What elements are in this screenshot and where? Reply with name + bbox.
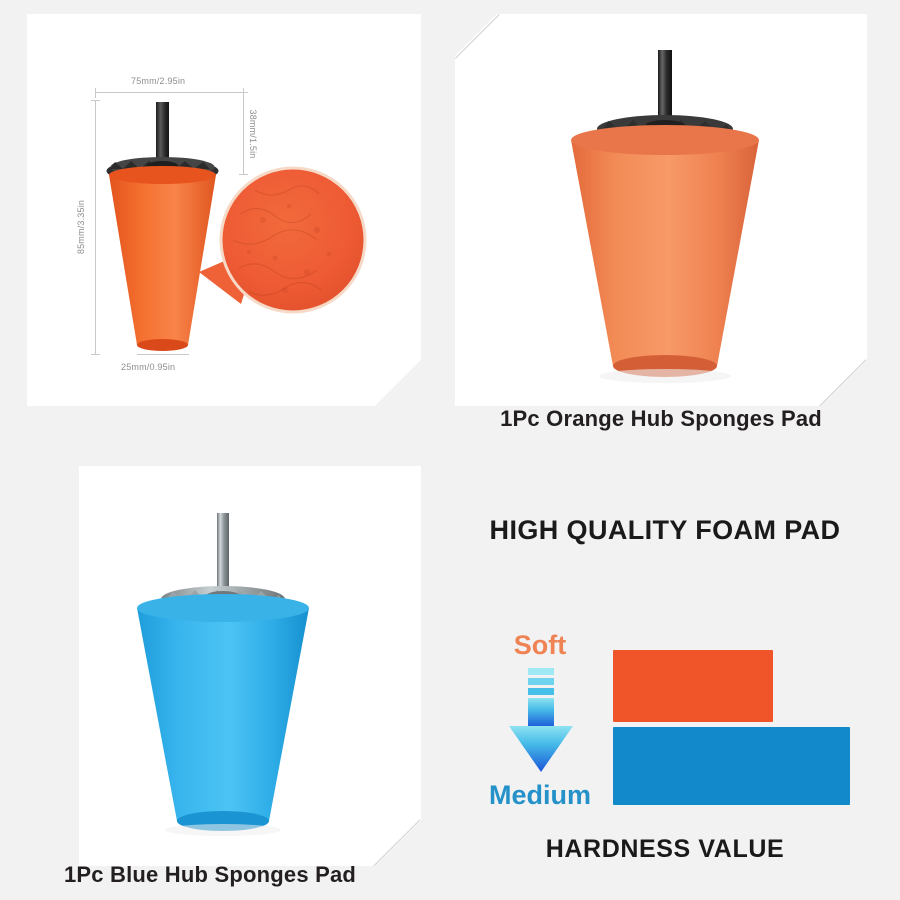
dimension-label-bottom-width: 25mm/0.95in [121,362,175,372]
blue-cone-product-image [79,466,421,866]
dimension-line-bottom-width [137,354,189,355]
dimension-tick-shaft-top [239,92,248,93]
hardness-scale-soft-label: Soft [480,630,600,661]
infographic-stage: 75mm/2.95in 85mm/3.35in 38mm/1.5in 25mm/… [0,0,900,900]
orange-pad-caption: 1Pc Orange Hub Sponges Pad [455,406,867,432]
dimension-label-top-width: 75mm/2.95in [131,76,185,86]
dimension-line-top-width [95,92,243,93]
orange-pad-panel [455,14,867,406]
panel-bevel-edge-topleft [455,14,500,59]
blue-pad-panel [79,466,421,866]
dimension-tick-height-top [91,100,100,101]
hardness-scale-medium-label: Medium [470,780,610,811]
panel-bevel-edge-bottomright [373,819,420,866]
hardness-bar-soft [613,650,773,722]
orange-cone-product-image [455,14,867,406]
dimension-tick-height-bottom [91,354,100,355]
dimension-spec-panel: 75mm/2.95in 85mm/3.35in 38mm/1.5in 25mm/… [27,14,421,406]
dimension-tick-shaft-bottom [239,174,248,175]
dimension-label-cone-height: 85mm/3.35in [76,187,86,267]
hardness-bar-medium [613,727,850,805]
down-arrow-icon [505,668,577,776]
hardness-value-title: HARDNESS VALUE [455,835,875,864]
page-headline: HIGH QUALITY FOAM PAD [455,515,875,546]
blue-pad-caption: 1Pc Blue Hub Sponges Pad [40,862,380,888]
dimension-line-height [95,100,96,354]
dimension-tick-top-left [95,88,96,98]
panel-bevel-edge-bottomright [819,359,866,406]
dimension-label-shaft-height: 38mm/1.5in [248,96,258,172]
dimension-line-shaft [243,92,244,174]
panel-bevel-edge [375,360,422,407]
orange-cone-diagram [27,14,421,406]
